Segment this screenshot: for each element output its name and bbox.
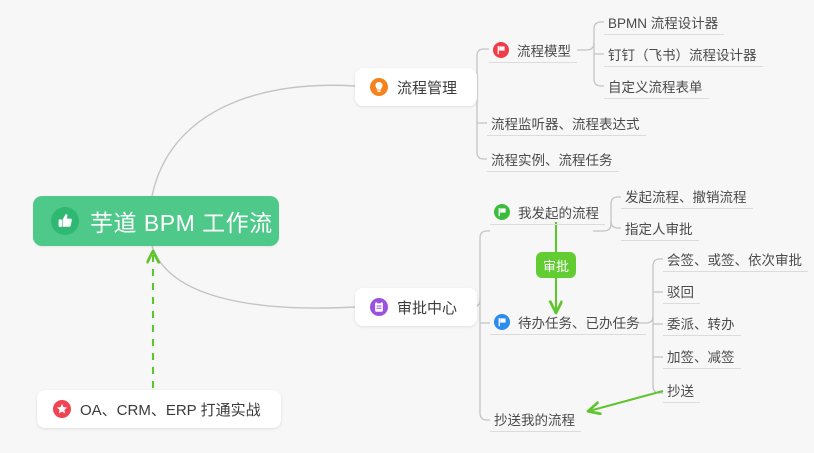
leaf-node-countersign-orsign-sequential[interactable]: 会签、或签、依次审批 bbox=[663, 249, 808, 272]
leaf-node-flow-listener-expression[interactable]: 流程监听器、流程表达式 bbox=[487, 113, 646, 136]
branch-label-approval-center: 审批中心 bbox=[397, 297, 457, 318]
footer-label-integration-practice: OA、CRM、ERP 打通实战 bbox=[80, 399, 261, 420]
connector-flow-model-spine bbox=[594, 43, 604, 86]
leaf-label-flow-listener-expression: 流程监听器、流程表达式 bbox=[491, 113, 640, 133]
leaf-node-add-remove-sign[interactable]: 加签、减签 bbox=[663, 346, 741, 369]
sub-node-flow-model[interactable]: 流程模型 bbox=[489, 40, 577, 63]
leaf-node-designated-approver[interactable]: 指定人审批 bbox=[621, 218, 699, 241]
connector-approval-center-spine bbox=[480, 300, 490, 420]
sub-label-my-initiated-flows: 我发起的流程 bbox=[518, 202, 599, 222]
leaf-label-custom-flow-form: 自定义流程表单 bbox=[608, 76, 703, 96]
lightbulb-icon bbox=[370, 78, 388, 96]
badge-approval-label: 审批 bbox=[543, 256, 569, 275]
star-icon bbox=[53, 400, 71, 418]
mindmap-canvas: 芋道 BPM 工作流 流程管理 流程模型 BPMN 流程设计器 钉钉（飞书）流程… bbox=[0, 0, 814, 453]
flag-icon bbox=[494, 204, 510, 220]
connector-flow-management-stub-model bbox=[477, 49, 489, 56]
root-label: 芋道 BPM 工作流 bbox=[90, 204, 273, 238]
leaf-label-cc-to-me-flows: 抄送我的流程 bbox=[494, 409, 575, 429]
flag-icon bbox=[493, 42, 509, 58]
branch-node-approval-center[interactable]: 审批中心 bbox=[355, 288, 477, 326]
root-node[interactable]: 芋道 BPM 工作流 bbox=[33, 196, 279, 246]
leaf-node-custom-flow-form[interactable]: 自定义流程表单 bbox=[604, 76, 709, 99]
sub-node-my-initiated-flows[interactable]: 我发起的流程 bbox=[490, 202, 605, 225]
connector-root-to-approval-center bbox=[152, 246, 355, 308]
leaf-node-cc[interactable]: 抄送 bbox=[663, 380, 700, 403]
branch-label-flow-management: 流程管理 bbox=[397, 77, 457, 98]
leaf-label-start-cancel-flow: 发起流程、撤销流程 bbox=[625, 186, 747, 206]
connector-root-to-flow-management bbox=[152, 85, 355, 196]
leaf-label-delegate-transfer: 委派、转办 bbox=[667, 313, 735, 333]
branch-node-flow-management[interactable]: 流程管理 bbox=[355, 68, 477, 106]
leaf-label-bpmn-designer: BPMN 流程设计器 bbox=[608, 12, 718, 32]
leaf-label-cc: 抄送 bbox=[667, 380, 694, 400]
leaf-node-reject[interactable]: 驳回 bbox=[663, 281, 700, 304]
leaf-node-delegate-transfer[interactable]: 委派、转办 bbox=[663, 313, 741, 336]
clipboard-icon bbox=[370, 298, 388, 316]
footer-node-integration-practice[interactable]: OA、CRM、ERP 打通实战 bbox=[37, 390, 281, 428]
leaf-node-bpmn-designer[interactable]: BPMN 流程设计器 bbox=[604, 12, 724, 35]
connector-my-flows-spine bbox=[611, 221, 621, 228]
sub-label-todo-done-tasks: 待办任务、已办任务 bbox=[518, 312, 640, 332]
connector-todo-spine bbox=[653, 316, 663, 393]
leaf-label-reject: 驳回 bbox=[667, 281, 694, 301]
flag-icon bbox=[494, 314, 510, 330]
leaf-label-flow-instance-task: 流程实例、流程任务 bbox=[491, 149, 613, 169]
leaf-label-countersign-orsign-sequential: 会签、或签、依次审批 bbox=[667, 249, 802, 269]
sub-label-flow-model: 流程模型 bbox=[517, 40, 571, 60]
leaf-node-flow-instance-task[interactable]: 流程实例、流程任务 bbox=[487, 149, 619, 172]
leaf-label-dingtalk-feishu-designer: 钉钉（飞书）流程设计器 bbox=[608, 44, 757, 64]
leaf-label-designated-approver: 指定人审批 bbox=[625, 218, 693, 238]
annotation-cc-link-arrow bbox=[589, 391, 663, 411]
leaf-node-dingtalk-feishu-designer[interactable]: 钉钉（飞书）流程设计器 bbox=[604, 44, 763, 67]
leaf-label-add-remove-sign: 加签、减签 bbox=[667, 346, 735, 366]
sub-node-todo-done-tasks[interactable]: 待办任务、已办任务 bbox=[490, 312, 646, 335]
leaf-node-cc-to-me-flows[interactable]: 抄送我的流程 bbox=[490, 409, 581, 432]
badge-approval[interactable]: 审批 bbox=[536, 252, 576, 278]
thumbs-up-icon bbox=[51, 207, 79, 235]
leaf-node-start-cancel-flow[interactable]: 发起流程、撤销流程 bbox=[621, 186, 753, 209]
connector-flow-model-bracket bbox=[577, 22, 604, 50]
